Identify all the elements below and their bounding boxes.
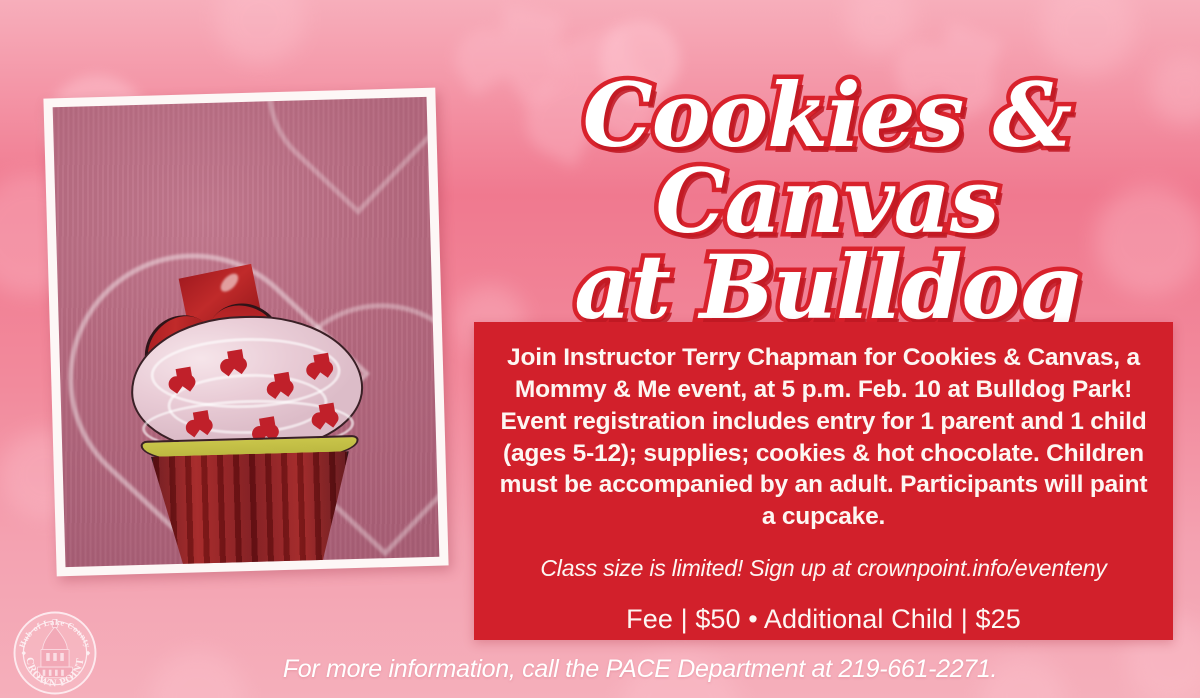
title-line-1: Cookies & Canvas xyxy=(583,63,1071,253)
heart-sprinkle xyxy=(193,410,210,426)
event-flyer: Cookies & Canvas at Bulldog Park Join In… xyxy=(0,0,1200,698)
bokeh-heart xyxy=(495,4,565,70)
painted-canvas xyxy=(53,97,440,567)
heart-sprinkle xyxy=(259,416,276,432)
heart-sprinkle xyxy=(274,372,291,388)
canvas-frame xyxy=(43,88,448,577)
painted-cupcake xyxy=(122,265,375,568)
contact-footer: For more information, call the PACE Depa… xyxy=(140,655,1140,684)
event-description: Join Instructor Terry Chapman for Cookie… xyxy=(498,342,1149,533)
signup-link-text[interactable]: Class size is limited! Sign up at crownp… xyxy=(492,555,1155,582)
heart-sprinkle xyxy=(227,349,244,365)
heart-sprinkle xyxy=(319,403,336,419)
bokeh-circle xyxy=(845,0,915,55)
heart-sprinkle xyxy=(313,353,330,369)
bokeh-circle xyxy=(215,0,305,65)
cupcake-painting xyxy=(43,88,448,577)
heart-sprinkle xyxy=(176,367,193,383)
event-details-box: Join Instructor Terry Chapman for Cookie… xyxy=(474,322,1173,640)
crown-point-city-seal-logo: Hub of Lake County CROWN POINT xyxy=(11,609,99,697)
cupcake-wrapper-base xyxy=(151,451,352,567)
fee-text: Fee | $50 • Additional Child | $25 xyxy=(492,604,1155,635)
